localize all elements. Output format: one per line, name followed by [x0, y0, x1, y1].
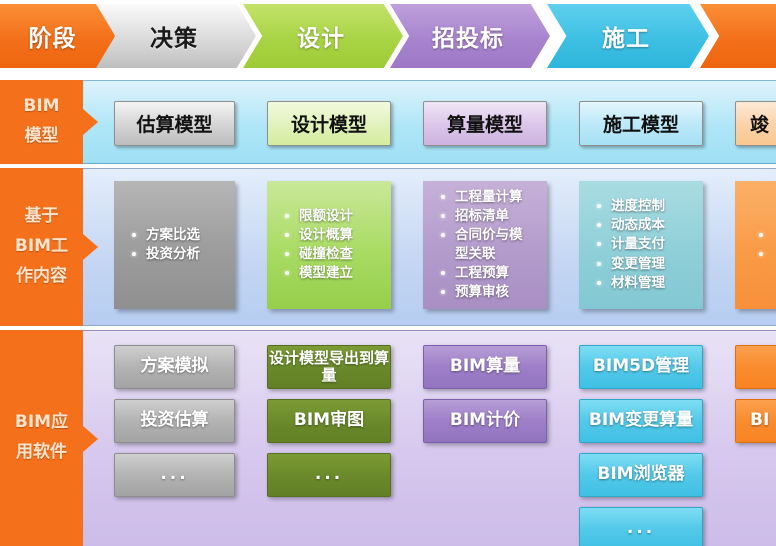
software-list: BIM5D管理 BIM变更算量 BIM浏览器 ...	[579, 345, 703, 538]
row-divider	[0, 72, 776, 80]
work-item: 材料管理	[595, 274, 697, 293]
model-col-design: 设计模型	[255, 81, 403, 163]
software-col-construction: BIM5D管理 BIM变更算量 BIM浏览器 ...	[567, 331, 715, 546]
label-line-1: 基于	[25, 202, 59, 232]
model-col-handover: 竣	[723, 81, 776, 163]
phase-row: 阶段 决策 设计 招投标 施工	[0, 0, 776, 72]
software-box[interactable]: BIM审图	[267, 399, 391, 443]
work-item	[757, 245, 776, 264]
bim-software-content: 方案模拟 投资估算 ... 设计模型导出到算量 BIM审图 ... BIM算量 …	[83, 330, 776, 546]
bim-work-content-row-label: 基于 BIM工 作内容	[0, 168, 83, 326]
bim-models-row: BIM 模型 估算模型 设计模型 算量模型 施工模型 竣	[0, 80, 776, 164]
bim-models-row-label: BIM 模型	[0, 80, 83, 164]
work-item-continuation: 型关联	[439, 245, 541, 264]
work-item: 变更管理	[595, 255, 697, 274]
work-item: 投资分析	[130, 245, 229, 264]
model-box[interactable]: 估算模型	[114, 101, 235, 146]
work-box[interactable]: 工程量计算 招标清单 合同价与模 型关联 工程预算 预算审核	[423, 181, 547, 309]
software-list: BIM算量 BIM计价	[423, 345, 547, 538]
work-item: 合同价与模	[439, 226, 541, 245]
work-item-list: 工程量计算 招标清单 合同价与模 型关联 工程预算 预算审核	[423, 188, 547, 303]
work-item: 方案比选	[130, 226, 229, 245]
model-box[interactable]: 竣	[735, 101, 776, 146]
software-box[interactable]: BIM浏览器	[579, 453, 703, 497]
work-item	[757, 226, 776, 245]
work-item: 招标清单	[439, 207, 541, 226]
software-col-handover: BI	[723, 331, 776, 546]
phase-label-chevron: 阶段	[0, 4, 115, 68]
label-line-2: BIM工	[15, 232, 68, 262]
software-box[interactable]: BIM5D管理	[579, 345, 703, 389]
work-item: 模型建立	[283, 264, 385, 283]
model-col-decision: 估算模型	[102, 81, 247, 163]
work-box[interactable]: 方案比选 投资分析	[114, 181, 235, 309]
work-col-design: 限额设计 设计概算 碰撞检查 模型建立	[255, 169, 403, 325]
model-col-construction: 施工模型	[567, 81, 715, 163]
software-box[interactable]: BI	[735, 399, 776, 443]
software-box-more[interactable]: ...	[267, 453, 391, 497]
work-item: 限额设计	[283, 207, 385, 226]
bim-software-row: BIM应 用软件 方案模拟 投资估算 ... 设计模型导出到算量 BIM审图 .…	[0, 330, 776, 546]
phase-item-design[interactable]: 设计	[243, 4, 403, 68]
software-box[interactable]: 设计模型导出到算量	[267, 345, 391, 389]
label-line-1: BIM	[23, 92, 59, 122]
label-line-2: 用软件	[16, 438, 67, 468]
row-divider	[0, 326, 776, 330]
phase-item-decision[interactable]: 决策	[96, 4, 256, 68]
software-list: 方案模拟 投资估算 ...	[114, 345, 235, 538]
work-col-bidding: 工程量计算 招标清单 合同价与模 型关联 工程预算 预算审核	[411, 169, 559, 325]
work-item: 设计概算	[283, 226, 385, 245]
work-item-list: 进度控制 动态成本 计量支付 变更管理 材料管理	[579, 197, 703, 293]
model-box[interactable]: 算量模型	[423, 101, 547, 146]
software-list: BI	[735, 345, 776, 538]
bim-models-content: 估算模型 设计模型 算量模型 施工模型 竣	[83, 80, 776, 164]
phase-item-bidding[interactable]: 招投标	[390, 4, 550, 68]
software-box[interactable]: BIM算量	[423, 345, 547, 389]
software-col-decision: 方案模拟 投资估算 ...	[102, 331, 247, 546]
work-item: 计量支付	[595, 235, 697, 254]
work-item-list: 限额设计 设计概算 碰撞检查 模型建立	[267, 207, 391, 284]
software-box[interactable]: 方案模拟	[114, 345, 235, 389]
work-col-handover	[723, 169, 776, 325]
phase-item-label: 招投标	[432, 19, 504, 53]
work-item: 进度控制	[595, 197, 697, 216]
bim-work-content-row: 基于 BIM工 作内容 方案比选 投资分析 限额设计 设计概算	[0, 168, 776, 326]
phase-item-label: 设计	[297, 19, 345, 53]
bim-work-content: 方案比选 投资分析 限额设计 设计概算 碰撞检查 模型建立	[83, 168, 776, 326]
software-box-more[interactable]: ...	[114, 453, 235, 497]
software-box-more[interactable]: ...	[579, 507, 703, 546]
software-box[interactable]	[735, 345, 776, 389]
phase-item-label: 施工	[602, 19, 650, 53]
work-item-list	[735, 226, 776, 264]
work-box[interactable]: 限额设计 设计概算 碰撞检查 模型建立	[267, 181, 391, 309]
software-box[interactable]: BIM计价	[423, 399, 547, 443]
phase-row-label: 阶段	[29, 19, 77, 53]
phase-item-construction[interactable]: 施工	[547, 4, 709, 68]
software-list: 设计模型导出到算量 BIM审图 ...	[267, 345, 391, 538]
model-col-bidding: 算量模型	[411, 81, 559, 163]
work-item: 碰撞检查	[283, 245, 385, 264]
row-divider	[0, 164, 776, 168]
label-line-1: BIM应	[15, 408, 68, 438]
software-col-design: 设计模型导出到算量 BIM审图 ...	[255, 331, 403, 546]
work-box[interactable]	[735, 181, 776, 309]
software-col-bidding: BIM算量 BIM计价	[411, 331, 559, 546]
bim-lifecycle-diagram: 阶段 决策 设计 招投标 施工 BIM 模型 估算模型 设计模型	[0, 0, 776, 546]
work-item: 动态成本	[595, 216, 697, 235]
work-item-list: 方案比选 投资分析	[114, 226, 235, 264]
model-box[interactable]: 施工模型	[579, 101, 703, 146]
label-line-3: 作内容	[16, 262, 67, 292]
work-item: 预算审核	[439, 283, 541, 302]
phase-item-handover[interactable]	[700, 4, 776, 68]
phase-item-label: 决策	[150, 19, 198, 53]
label-line-2: 模型	[25, 122, 59, 152]
bim-software-row-label: BIM应 用软件	[0, 330, 83, 546]
software-box[interactable]: 投资估算	[114, 399, 235, 443]
work-box[interactable]: 进度控制 动态成本 计量支付 变更管理 材料管理	[579, 181, 703, 309]
model-box[interactable]: 设计模型	[267, 101, 391, 146]
work-item: 工程预算	[439, 264, 541, 283]
work-col-decision: 方案比选 投资分析	[102, 169, 247, 325]
software-box[interactable]: BIM变更算量	[579, 399, 703, 443]
work-col-construction: 进度控制 动态成本 计量支付 变更管理 材料管理	[567, 169, 715, 325]
work-item: 工程量计算	[439, 188, 541, 207]
